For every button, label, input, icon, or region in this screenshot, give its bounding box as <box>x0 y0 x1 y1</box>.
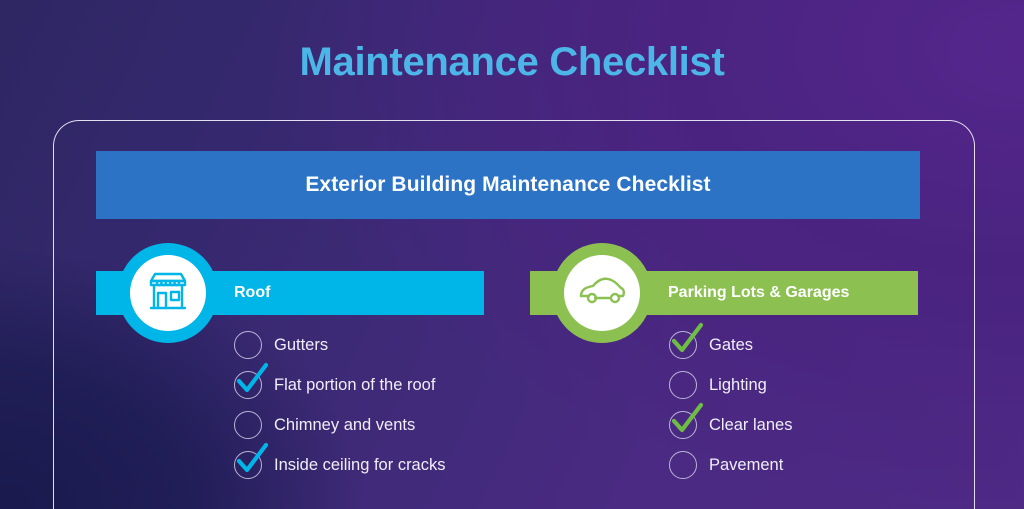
list-item-label: Lighting <box>709 376 767 395</box>
category-parking-label: Parking Lots & Garages <box>668 284 849 302</box>
page-title: Maintenance Checklist <box>0 40 1024 85</box>
section-banner-label: Exterior Building Maintenance Checklist <box>305 173 710 197</box>
checkbox-checked-icon[interactable] <box>667 409 699 441</box>
checkbox-unchecked-icon[interactable] <box>232 329 264 361</box>
checkbox-unchecked-icon[interactable] <box>232 409 264 441</box>
checkbox-checked-icon[interactable] <box>232 449 264 481</box>
list-item[interactable]: Flat portion of the roof <box>232 373 446 397</box>
storefront-icon <box>145 270 191 317</box>
category-roof-label: Roof <box>234 284 270 302</box>
list-item[interactable]: Pavement <box>667 453 792 477</box>
list-item-label: Gates <box>709 336 753 355</box>
list-item[interactable]: Chimney and vents <box>232 413 446 437</box>
list-item[interactable]: Gutters <box>232 333 446 357</box>
list-item[interactable]: Lighting <box>667 373 792 397</box>
list-item-label: Pavement <box>709 456 783 475</box>
list-item-label: Chimney and vents <box>274 416 415 435</box>
list-item[interactable]: Gates <box>667 333 792 357</box>
category-roof-icon-badge <box>118 243 218 343</box>
car-icon <box>577 274 627 313</box>
list-item-label: Gutters <box>274 336 328 355</box>
checkbox-unchecked-icon[interactable] <box>667 369 699 401</box>
list-item[interactable]: Inside ceiling for cracks <box>232 453 446 477</box>
section-banner: Exterior Building Maintenance Checklist <box>96 151 920 219</box>
checklist-parking: Gates Lighting Clear lanes Pavement <box>667 333 792 477</box>
category-parking-icon-badge <box>552 243 652 343</box>
list-item[interactable]: Clear lanes <box>667 413 792 437</box>
list-item-label: Clear lanes <box>709 416 792 435</box>
checkbox-checked-icon[interactable] <box>232 369 264 401</box>
checkbox-unchecked-icon[interactable] <box>667 449 699 481</box>
checklist-roof: Gutters Flat portion of the roof Chimney… <box>232 333 446 477</box>
checkbox-checked-icon[interactable] <box>667 329 699 361</box>
list-item-label: Inside ceiling for cracks <box>274 456 446 475</box>
list-item-label: Flat portion of the roof <box>274 376 435 395</box>
